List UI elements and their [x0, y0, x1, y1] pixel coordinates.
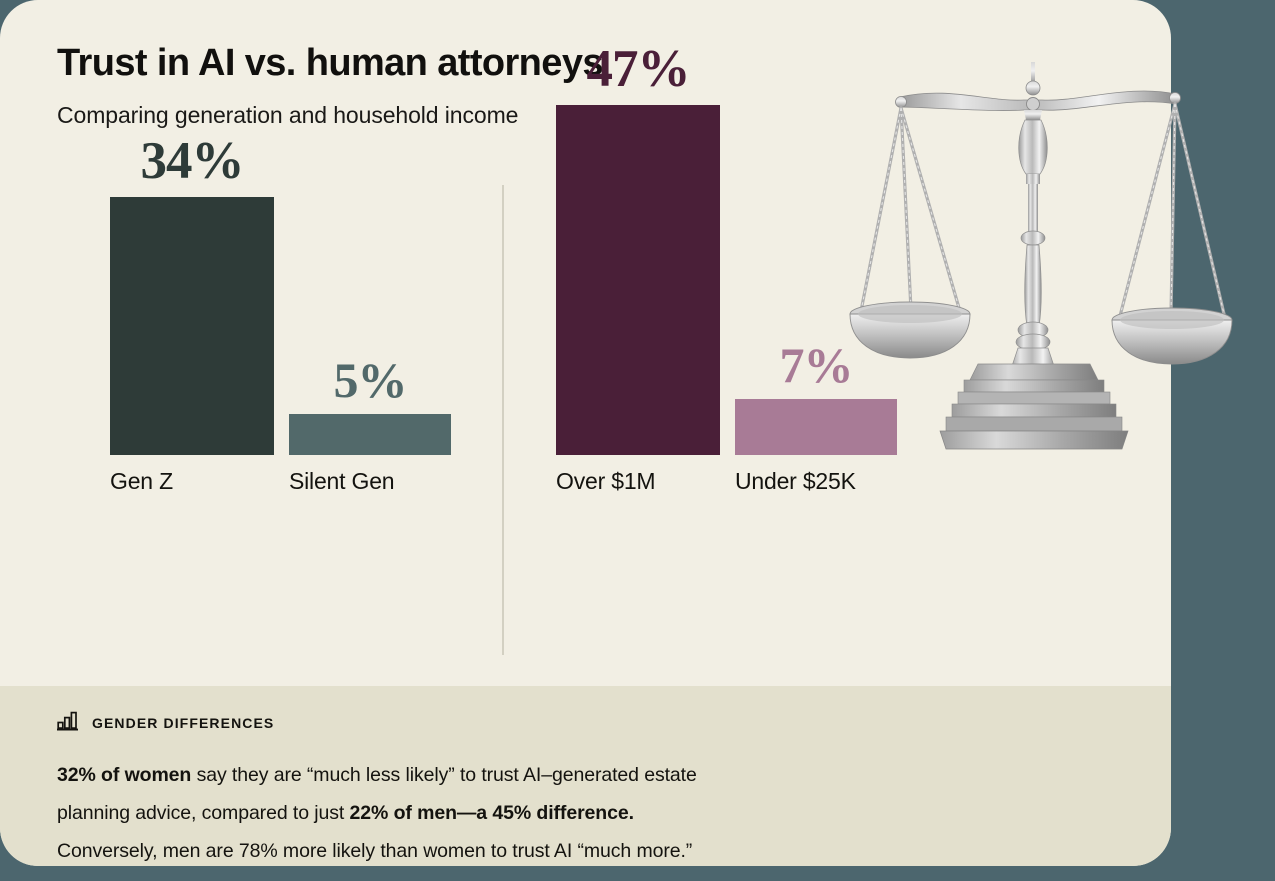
- footer-body-line: Conversely, men are 78% more likely than…: [57, 832, 1114, 866]
- group-divider: [502, 185, 504, 655]
- bar-rect-silent-gen: [289, 414, 451, 455]
- bar-silent-gen: 5% Silent Gen: [289, 414, 451, 455]
- bar-label-under-25k: Under $25K: [735, 468, 856, 495]
- footer-body-line: 32% of women say they are “much less lik…: [57, 756, 1114, 794]
- footer-eyebrow-label: GENDER DIFFERENCES: [92, 715, 274, 731]
- footer-body-text: 32% of women say they are “much less lik…: [57, 756, 1114, 866]
- bar-chart-icon: [57, 711, 79, 736]
- bar-under-25k: 7% Under $25K: [735, 399, 897, 455]
- bar-over-1m: 47% Over $1M: [556, 105, 720, 455]
- footer-eyebrow: GENDER DIFFERENCES: [57, 712, 1114, 734]
- bar-chart: 34% Gen Z 5% Silent Gen 47% Over $1M 7% …: [0, 0, 1171, 686]
- bar-label-over-1m: Over $1M: [556, 468, 655, 495]
- bar-value-silent-gen: 5%: [334, 355, 407, 414]
- bar-value-under-25k: 7%: [780, 340, 853, 399]
- bar-value-gen-z: 34%: [141, 135, 244, 197]
- bar-gen-z: 34% Gen Z: [110, 197, 274, 455]
- bar-rect-over-1m: [556, 105, 720, 455]
- footer-callout: GENDER DIFFERENCES 32% of women say they…: [0, 686, 1171, 866]
- infographic-card: Trust in AI vs. human attorneys Comparin…: [0, 0, 1171, 866]
- bar-value-over-1m: 47%: [587, 43, 690, 105]
- bar-rect-under-25k: [735, 399, 897, 455]
- bar-rect-gen-z: [110, 197, 274, 455]
- footer-body-line: planning advice, compared to just 22% of…: [57, 794, 1114, 832]
- bar-label-silent-gen: Silent Gen: [289, 468, 394, 495]
- bar-label-gen-z: Gen Z: [110, 468, 173, 495]
